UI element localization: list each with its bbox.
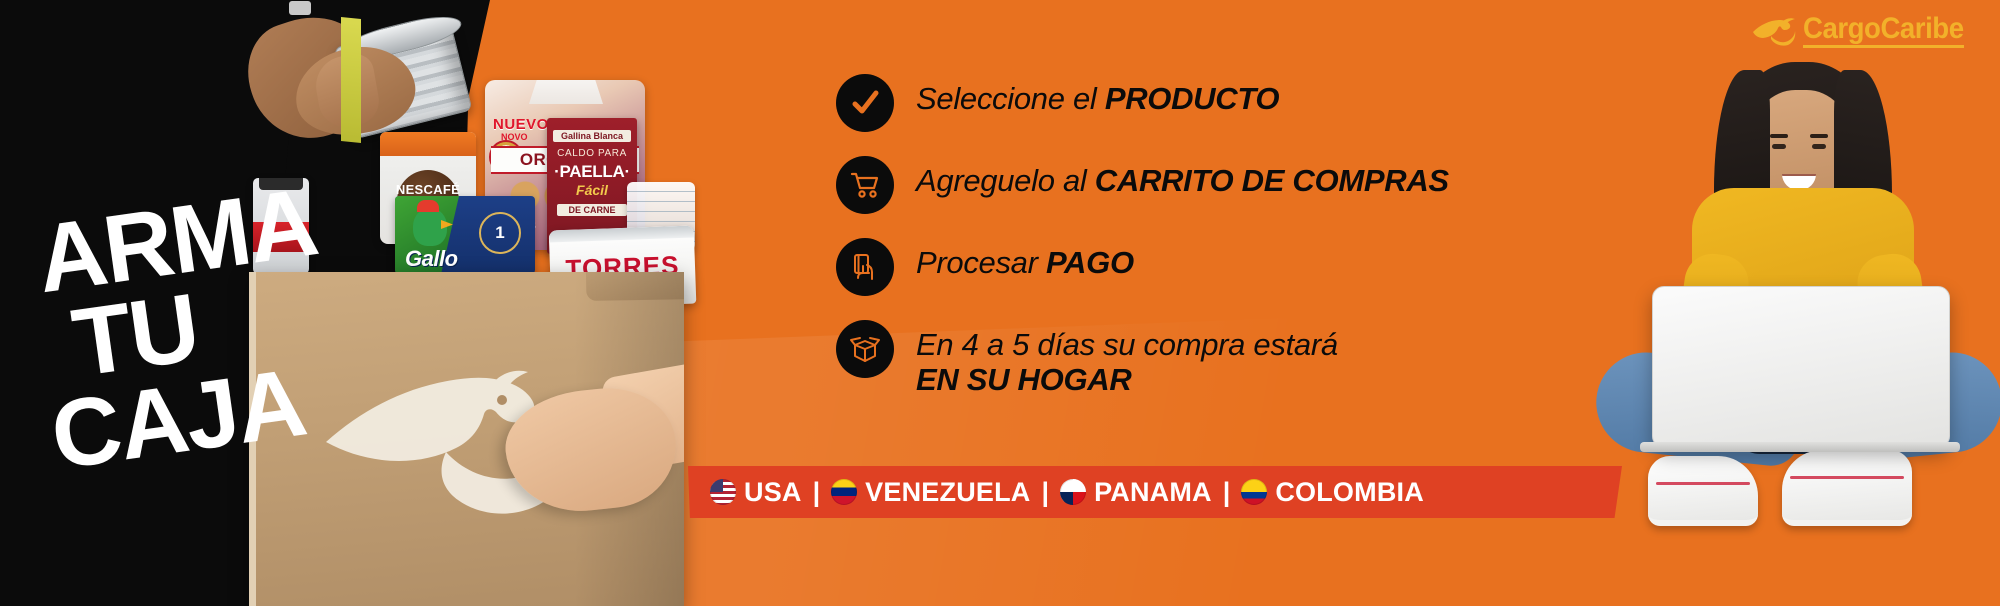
country-separator: | — [1223, 477, 1231, 508]
shopping-cart-icon — [836, 156, 894, 214]
flag-usa-icon — [710, 479, 736, 505]
step-item: Agreguelo al CARRITO DE COMPRAS — [836, 156, 1576, 214]
bread-bag-twist — [529, 80, 603, 104]
eye-right — [1812, 144, 1826, 149]
cargocaribe-logo[interactable]: CargoCaribe — [1751, 14, 1978, 48]
step-bold: PAGO — [1046, 245, 1134, 280]
flag-panama-icon — [1060, 479, 1086, 505]
step-bold-2: EN SU HOGAR — [916, 362, 1131, 397]
eyebrow-right — [1810, 134, 1828, 138]
nescafe-cap — [380, 132, 476, 156]
step-plain: Seleccione el — [916, 81, 1105, 116]
logo-wordmark: CargoCaribe — [1803, 14, 1964, 48]
eyebrow-left — [1770, 134, 1788, 138]
hand-credit-card-icon — [836, 238, 894, 296]
paella-brand: Gallina Blanca — [553, 130, 631, 142]
check-circle-icon — [836, 74, 894, 132]
pelican-icon — [1751, 16, 1797, 46]
step-bold: PRODUCTO — [1105, 81, 1279, 116]
country-bar: USA | VENEZUELA | PANAMA | COLOMBIA — [688, 466, 1622, 518]
laptop — [1652, 286, 1950, 448]
step-item: Procesar PAGO — [836, 238, 1576, 296]
cup-rim — [627, 202, 695, 212]
step-bold: CARRITO DE COMPRAS — [1095, 163, 1449, 198]
country-item-venezuela[interactable]: VENEZUELA — [831, 477, 1030, 508]
sneaker-right — [1782, 450, 1912, 526]
cup-rim — [627, 192, 695, 202]
step-text: En 4 a 5 días su compra estaráEN SU HOGA… — [916, 320, 1338, 397]
country-item-panama[interactable]: PANAMA — [1060, 477, 1212, 508]
step-text: Agreguelo al CARRITO DE COMPRAS — [916, 156, 1449, 199]
sneaker-left — [1648, 456, 1758, 526]
paella-line-4: DE CARNE — [557, 204, 627, 216]
flag-colombia-icon — [1241, 479, 1267, 505]
step-item: En 4 a 5 días su compra estaráEN SU HOGA… — [836, 320, 1576, 397]
paella-line-2: ·PAELLA· — [547, 162, 637, 182]
bread-new-label: NUEVO — [493, 116, 549, 133]
step-text: Seleccione el PRODUCTO — [916, 74, 1279, 117]
country-item-usa[interactable]: USA — [710, 477, 802, 508]
flag-venezuela-icon — [831, 479, 857, 505]
country-name: PANAMA — [1094, 477, 1212, 508]
paella-side-panel — [341, 17, 361, 143]
laptop-base — [1640, 442, 1960, 452]
promo-banner: ARMA TU CAJA NESCAFÉ AZERA NUEVO NOVO OR… — [0, 0, 2000, 606]
step-text: Procesar PAGO — [916, 238, 1134, 281]
country-separator: | — [1042, 477, 1050, 508]
country-item-colombia[interactable]: COLOMBIA — [1241, 477, 1424, 508]
country-name: USA — [744, 477, 802, 508]
paella-line-3: Fácil — [547, 182, 637, 198]
step-item: Seleccione el PRODUCTO — [836, 74, 1576, 132]
eye-left — [1772, 144, 1786, 149]
cup-rim — [627, 212, 695, 222]
woman-with-laptop-photo — [1596, 58, 2000, 606]
paella-carton-cap — [289, 1, 311, 15]
country-name: VENEZUELA — [865, 477, 1030, 508]
cup-rim — [627, 182, 695, 192]
paella-line-1: CALDO PARA — [547, 148, 637, 159]
step-plain: Agreguelo al — [916, 163, 1095, 198]
country-separator: | — [813, 477, 821, 508]
steps-list: Seleccione el PRODUCTO Agreguelo al CARR… — [836, 74, 1576, 397]
step-plain: Procesar — [916, 245, 1046, 280]
country-name: COLOMBIA — [1275, 477, 1424, 508]
open-box-icon — [836, 320, 894, 378]
step-plain: En 4 a 5 días su compra estará — [916, 327, 1338, 362]
